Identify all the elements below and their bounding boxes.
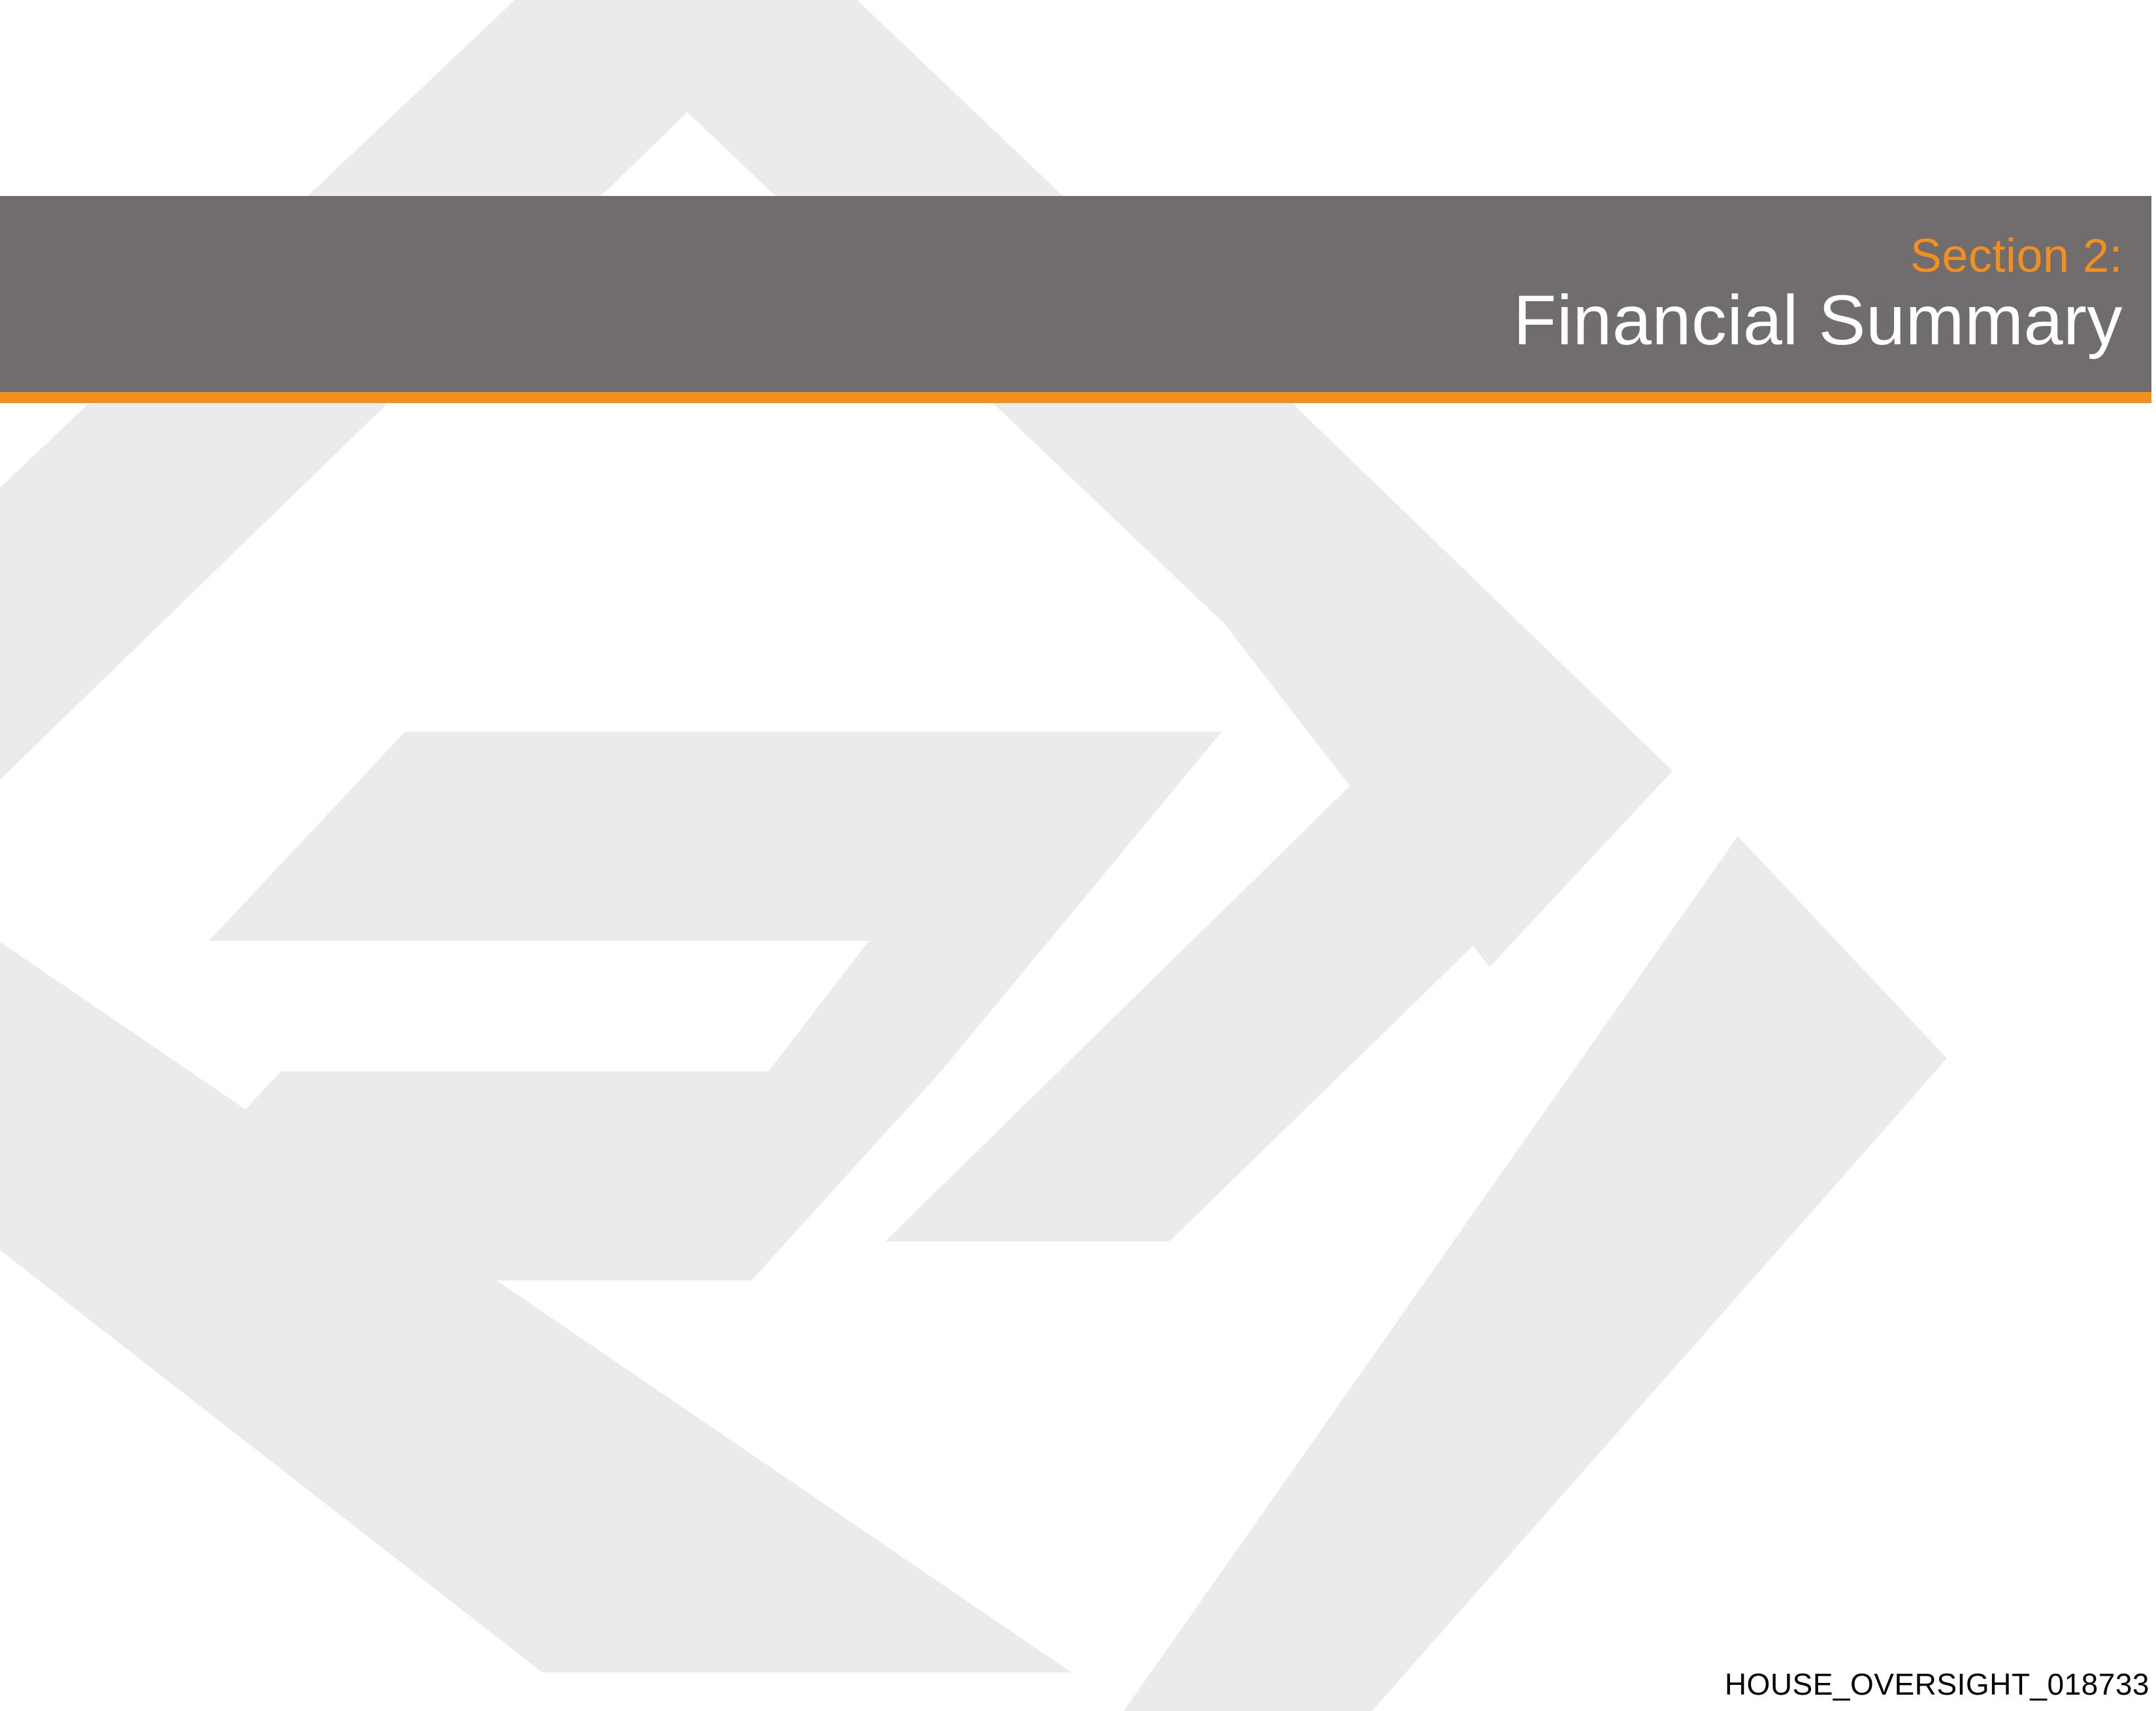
watermark-lower-right-arm (1124, 836, 1947, 1711)
watermark-outer-lower-stroke-2 (0, 888, 1071, 1672)
watermark-inner-connector (608, 732, 1222, 1280)
watermark-outer-lower-stroke (0, 0, 830, 856)
slide-canvas: Section 2: Financial Summary HOUSE_OVERS… (0, 0, 2156, 1711)
watermark-right-flank (1045, 392, 1673, 967)
section-eyebrow-label: Section 2: (1910, 233, 2123, 280)
watermark-inner-top-arm (209, 732, 1071, 941)
section-title-banner: Section 2: Financial Summary (0, 196, 2151, 392)
banner-accent-rule (0, 392, 2151, 403)
bates-number-stamp: HOUSE_OVERSIGHT_018733 (1725, 1669, 2149, 1699)
watermark-inner-bottom-arm (85, 1071, 941, 1280)
watermark-outer-stroke (542, 0, 1659, 1241)
page-title: Financial Summary (1513, 285, 2123, 355)
